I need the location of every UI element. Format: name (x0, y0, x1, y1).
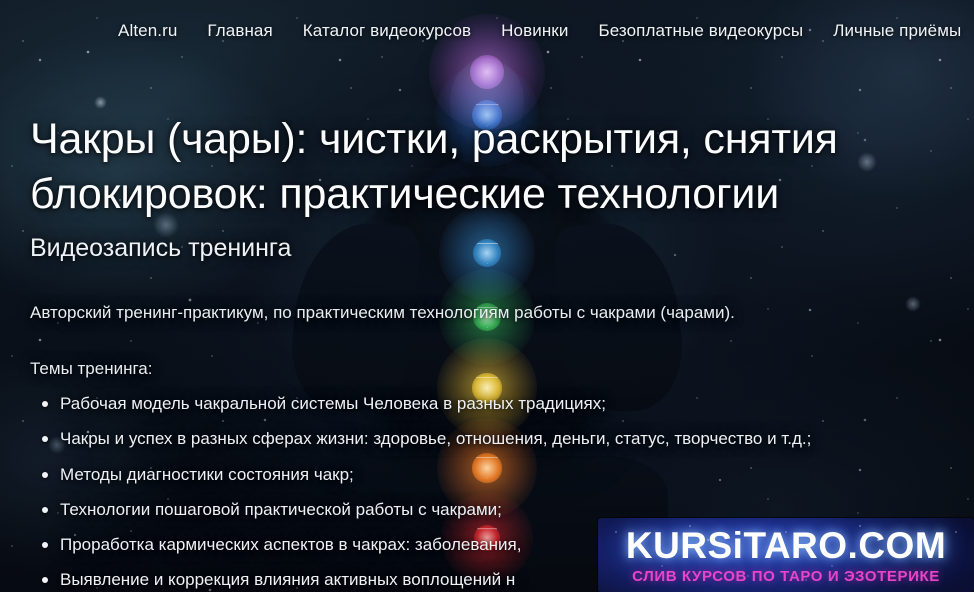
nav-item-lichnye-priyomy[interactable]: Личные приёмы (833, 21, 961, 41)
nav-item-katalog-videokursov[interactable]: Каталог видеокурсов (303, 21, 471, 41)
list-item: Технологии пошаговой практической работы… (30, 499, 930, 520)
watermark-subtitle: СЛИВ КУРСОВ ПО ТАРО И ЭЗОТЕРИКЕ (632, 569, 940, 584)
topics-label: Темы тренинга: (30, 359, 930, 379)
watermark-kursitaro: KURSiTARO.COM СЛИВ КУРСОВ ПО ТАРО И ЭЗОТ… (598, 518, 974, 592)
watermark-title: KURSiTARO.COM (626, 527, 946, 564)
nav-item-bezoplatnye-videokursy[interactable]: Безоплатные видеокурсы (598, 21, 803, 41)
nav-item-alten-ru[interactable]: Alten.ru (118, 21, 177, 41)
lead-paragraph: Авторский тренинг-практикум, по практиче… (30, 303, 930, 323)
list-item: Чакры и успех в разных сферах жизни: здо… (30, 428, 930, 449)
page-root: Alten.ru Главная Каталог видеокурсов Нов… (0, 0, 974, 592)
nav-item-glavnaya[interactable]: Главная (207, 21, 272, 41)
main-navigation: Alten.ru Главная Каталог видеокурсов Нов… (0, 0, 974, 62)
nav-item-novinki[interactable]: Новинки (501, 21, 568, 41)
page-title: Чакры (чары): чистки, раскрытия, снятия … (30, 112, 930, 222)
list-item: Рабочая модель чакральной системы Челове… (30, 393, 930, 414)
page-subtitle: Видеозапись тренинга (30, 234, 930, 263)
list-item: Методы диагностики состояния чакр; (30, 464, 930, 485)
